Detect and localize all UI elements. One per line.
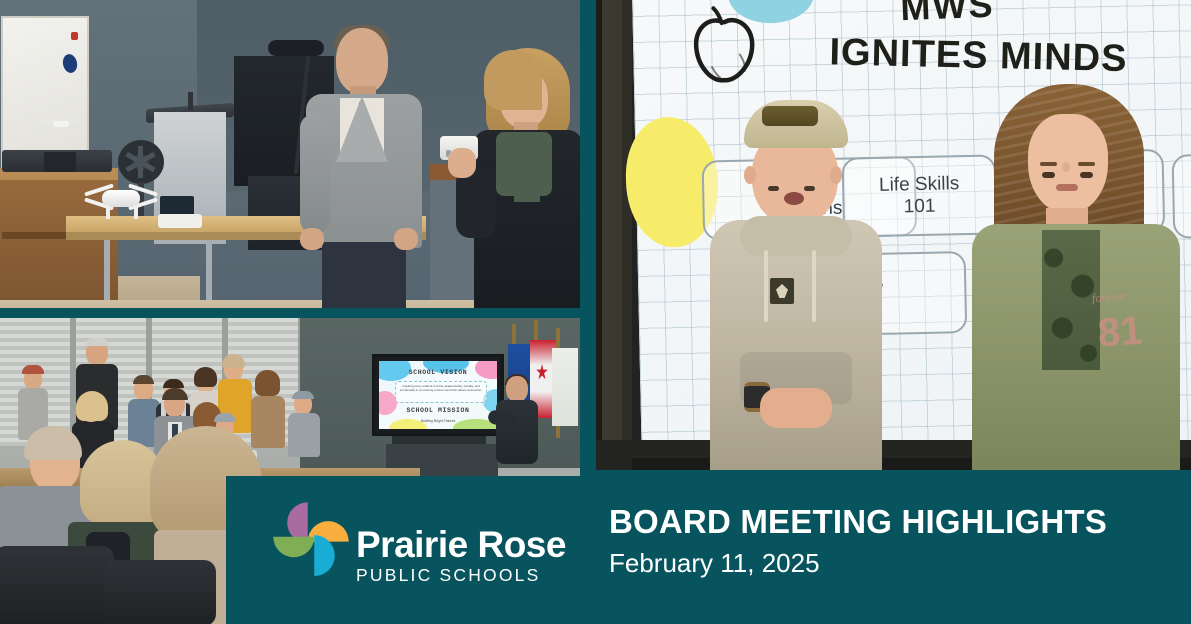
- man-trousers: [322, 242, 406, 308]
- presenter-man: [300, 28, 432, 308]
- photo-students-presentation: MWS IGNITES MINDS STEMOptions Life Skill…: [596, 0, 1191, 470]
- slide-heading-vision: SCHOOL VISION: [379, 369, 497, 376]
- student-girl: forever 81: [966, 84, 1186, 470]
- table-leg: [206, 240, 212, 308]
- podium-microphone: [188, 92, 193, 110]
- students-group: forever 81: [596, 0, 1191, 470]
- logo-petal-green: [273, 537, 314, 557]
- sweater-script-text: forever: [1092, 289, 1127, 306]
- cap-strap: [762, 106, 818, 126]
- brand-wordmark: Prairie Rose PUBLIC SCHOOLS: [356, 526, 566, 585]
- boardroom-display: SCHOOL VISION Inspiring every student to…: [372, 354, 504, 436]
- office-chair: [0, 546, 114, 624]
- prairie-rose-pinwheel-logo: [270, 498, 352, 582]
- flag-franco-albertan: [552, 348, 578, 426]
- boy-mouth: [784, 192, 804, 205]
- footer-banner: Prairie Rose PUBLIC SCHOOLS BOARD MEETIN…: [226, 476, 1191, 624]
- table-leg: [104, 240, 110, 308]
- sweater-number: 81: [1096, 309, 1144, 357]
- woman-hand: [448, 148, 476, 178]
- photo-drone-demo: [0, 0, 580, 308]
- flying-drone: [44, 118, 78, 130]
- banner-date: February 11, 2025: [609, 546, 1107, 580]
- slide-body-vision: Inspiring every student to thrive academ…: [395, 381, 487, 403]
- slide-heading-mission: SCHOOL MISSION: [379, 407, 497, 414]
- student-boy: [696, 100, 896, 470]
- boardroom-presenter: [494, 376, 540, 486]
- brand-subtitle: PUBLIC SCHOOLS: [356, 565, 566, 585]
- whiteboard-magnet: [61, 53, 79, 74]
- man-hand: [394, 228, 418, 250]
- banner-headline: BOARD MEETING HIGHLIGHTS: [609, 502, 1107, 542]
- presenter-woman: [462, 52, 580, 308]
- slide-school-vision-mission: SCHOOL VISION Inspiring every student to…: [379, 361, 497, 429]
- boy-clasped-hands: [760, 388, 832, 428]
- man-hand: [300, 228, 324, 250]
- boy-hoodie: [710, 220, 882, 470]
- brand-name: Prairie Rose: [356, 526, 566, 564]
- man-head: [336, 28, 388, 94]
- social-graphic-canvas: SCHOOL VISION Inspiring every student to…: [0, 0, 1191, 624]
- office-chair: [104, 560, 216, 624]
- hoodie-logo-icon: [770, 278, 794, 304]
- desk-phone: [44, 152, 76, 172]
- drone-remote-on-table: [158, 214, 202, 228]
- whiteboard-clip: [71, 32, 78, 40]
- headline-block: BOARD MEETING HIGHLIGHTS February 11, 20…: [609, 502, 1107, 580]
- brand-lockup: Prairie Rose PUBLIC SCHOOLS: [270, 498, 600, 606]
- slide-body-mission: Building Bright Futures: [379, 419, 497, 423]
- quadcopter-drone: [84, 182, 158, 218]
- display-mount: [392, 436, 486, 444]
